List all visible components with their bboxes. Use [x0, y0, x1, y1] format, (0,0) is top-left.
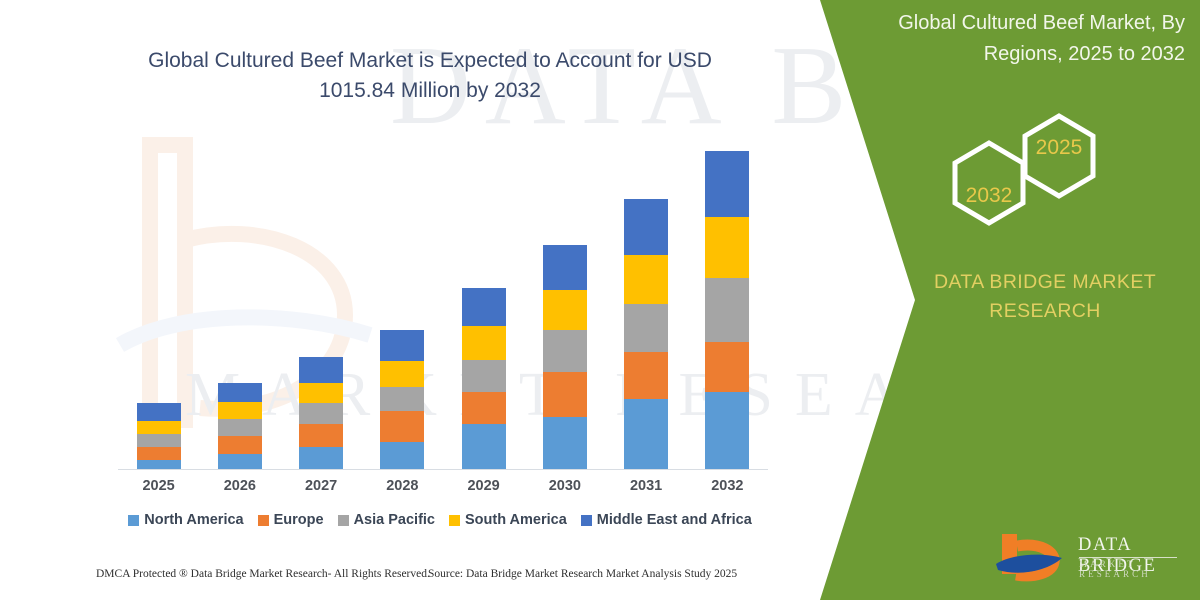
company-logo: DATA BRIDGE MARKET RESEARCH: [990, 528, 1180, 586]
bar-segment: [380, 361, 424, 387]
bar-segment: [624, 399, 668, 469]
stacked-bar: [705, 151, 749, 469]
bar-segment: [462, 326, 506, 360]
bar-segment: [624, 255, 668, 303]
bar-segment: [137, 421, 181, 434]
chart-legend: North AmericaEuropeAsia PacificSouth Ame…: [110, 512, 770, 528]
stacked-bar: [380, 330, 424, 469]
stacked-bar: [462, 288, 506, 469]
bar-segment: [137, 447, 181, 459]
footer-source-note: Source: Data Bridge Market Research Mark…: [428, 568, 737, 580]
x-axis-tick-label: 2030: [543, 478, 587, 494]
bar-segment: [218, 402, 262, 418]
bar-segment: [624, 352, 668, 399]
bar-segment: [380, 387, 424, 412]
x-axis-labels: 20252026202720282029203020312032: [118, 478, 768, 494]
legend-swatch-icon: [338, 515, 349, 526]
bar-segment: [462, 360, 506, 392]
bar-segment: [218, 436, 262, 453]
bar-segment: [218, 419, 262, 436]
x-axis-tick-label: 2027: [299, 478, 343, 494]
legend-swatch-icon: [258, 515, 269, 526]
bar-segment: [137, 434, 181, 447]
stacked-bar: [299, 357, 343, 469]
bar-segment: [543, 330, 587, 372]
hexagon-2025-label: 2025: [1014, 136, 1104, 160]
legend-swatch-icon: [449, 515, 460, 526]
x-axis-tick-label: 2029: [462, 478, 506, 494]
x-axis-tick-label: 2028: [380, 478, 424, 494]
infographic-root: DATA BRIDGE MARKET RESEARCH Global Cultu…: [0, 0, 1200, 600]
bar-segment: [705, 151, 749, 217]
x-axis-tick-label: 2025: [137, 478, 181, 494]
bar-segment: [462, 424, 506, 469]
bar-segment: [299, 424, 343, 448]
legend-label: North America: [144, 512, 243, 528]
bar-segment: [543, 290, 587, 330]
bar-segment: [705, 278, 749, 342]
bar-chart: [118, 140, 768, 470]
bar-segment: [624, 199, 668, 256]
bar-segment: [380, 411, 424, 442]
brand-name: DATA BRIDGE MARKET RESEARCH: [905, 268, 1185, 326]
logo-divider: [1079, 557, 1177, 558]
data-bridge-mark-icon: [990, 528, 1074, 584]
bar-segment: [299, 403, 343, 424]
chart-bars-container: [118, 140, 768, 469]
bar-segment: [218, 383, 262, 403]
bar-segment: [705, 217, 749, 278]
bar-segment: [462, 288, 506, 326]
stacked-bar: [218, 383, 262, 469]
bar-segment: [624, 304, 668, 352]
legend-item[interactable]: Europe: [258, 512, 324, 528]
bar-segment: [462, 392, 506, 424]
legend-label: South America: [465, 512, 567, 528]
legend-item[interactable]: North America: [128, 512, 243, 528]
bar-segment: [705, 392, 749, 469]
chart-panel: Global Cultured Beef Market is Expected …: [0, 0, 830, 600]
green-side-panel: Global Cultured Beef Market, By Regions,…: [800, 0, 1200, 600]
legend-label: Middle East and Africa: [597, 512, 752, 528]
page-title: Global Cultured Beef Market is Expected …: [120, 46, 740, 106]
bar-segment: [705, 342, 749, 392]
x-axis-tick-label: 2031: [624, 478, 668, 494]
bar-segment: [543, 417, 587, 469]
hexagon-outlines-icon: [920, 108, 1140, 233]
bar-segment: [137, 403, 181, 420]
bar-segment: [299, 357, 343, 383]
bar-segment: [218, 454, 262, 469]
footer-dmca-notice: DMCA Protected ® Data Bridge Market Rese…: [96, 568, 430, 580]
bar-segment: [299, 447, 343, 469]
bar-segment: [543, 372, 587, 416]
stacked-bar: [137, 403, 181, 469]
hexagon-2032-label: 2032: [944, 184, 1034, 208]
bar-segment: [380, 442, 424, 469]
legend-label: Asia Pacific: [354, 512, 435, 528]
legend-item[interactable]: South America: [449, 512, 567, 528]
bar-segment: [543, 245, 587, 290]
hexagon-group: 2032 2025: [920, 108, 1140, 233]
legend-label: Europe: [274, 512, 324, 528]
legend-swatch-icon: [581, 515, 592, 526]
stacked-bar: [543, 245, 587, 469]
legend-swatch-icon: [128, 515, 139, 526]
logo-subtitle: MARKET RESEARCH: [1079, 559, 1180, 579]
legend-item[interactable]: Middle East and Africa: [581, 512, 752, 528]
hexagon-2032-shape: [955, 143, 1023, 223]
side-panel-title: Global Cultured Beef Market, By Regions,…: [855, 8, 1185, 70]
x-axis-tick-label: 2032: [705, 478, 749, 494]
stacked-bar: [624, 199, 668, 469]
x-axis-tick-label: 2026: [218, 478, 262, 494]
legend-item[interactable]: Asia Pacific: [338, 512, 435, 528]
bar-segment: [299, 383, 343, 404]
bar-segment: [380, 330, 424, 361]
bar-segment: [137, 460, 181, 469]
x-axis-line: [118, 469, 768, 470]
